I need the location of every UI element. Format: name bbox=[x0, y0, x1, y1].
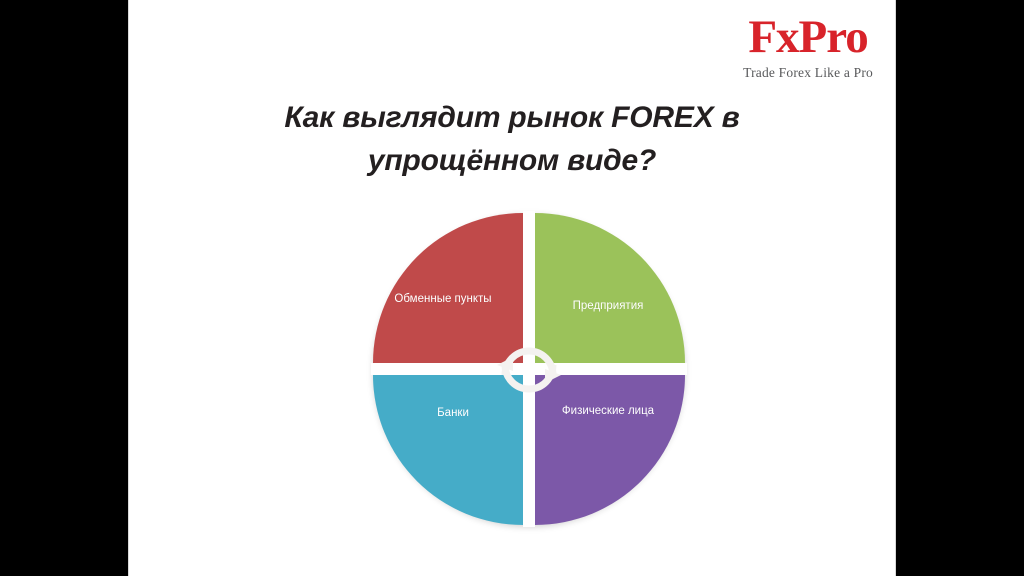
letterbox-left bbox=[0, 0, 128, 576]
slice-label-obmennye-punkty: Обменные пункты bbox=[383, 291, 503, 308]
presentation-slide: FxPro Trade Forex Like a Pro Как выгляди… bbox=[128, 0, 896, 576]
logo-wordmark: FxPro bbox=[743, 14, 873, 61]
slide-title-line-2: упрощённом виде? bbox=[129, 140, 895, 183]
cycle-arrows-icon bbox=[485, 325, 573, 413]
letterbox-right bbox=[896, 0, 1024, 576]
slide-title-line-1: Как выглядит рынок FOREX в bbox=[129, 97, 895, 140]
logo-tagline: Trade Forex Like a Pro bbox=[743, 66, 873, 80]
fxpro-logo: FxPro Trade Forex Like a Pro bbox=[743, 14, 873, 80]
slice-label-predpriyatiya: Предприятия bbox=[548, 298, 668, 315]
slide-stage: FxPro Trade Forex Like a Pro Как выгляди… bbox=[0, 0, 1024, 576]
slide-title: Как выглядит рынок FOREX в упрощённом ви… bbox=[129, 97, 895, 182]
forex-market-quadrant-chart: Обменные пункты Предприятия Банки Физиче… bbox=[373, 213, 685, 525]
